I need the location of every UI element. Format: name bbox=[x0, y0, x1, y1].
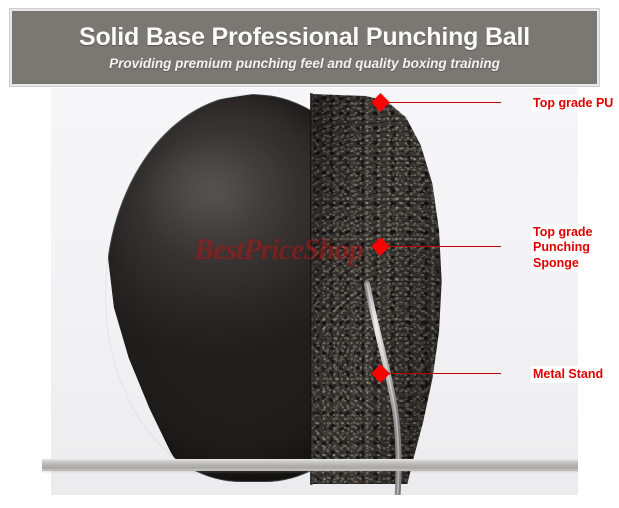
callout-line-top-grade-pu bbox=[388, 102, 501, 103]
product-infographic: Solid Base Professional Punching Ball Pr… bbox=[0, 0, 619, 508]
callout-label-top-grade-punching-sponge: Top grade Punching Sponge bbox=[531, 224, 595, 272]
callout-label-top-grade-pu: Top grade PU bbox=[531, 95, 615, 112]
base-bar-shadow bbox=[42, 470, 578, 474]
header-banner: Solid Base Professional Punching Ball Pr… bbox=[10, 9, 599, 86]
product-photo: BestPriceShop bbox=[42, 88, 578, 495]
page-title: Solid Base Professional Punching Ball bbox=[79, 24, 530, 50]
callout-label-metal-stand: Metal Stand bbox=[531, 366, 605, 383]
sponge-shading bbox=[311, 94, 443, 484]
photo-left-margin bbox=[42, 88, 51, 495]
page-subtitle: Providing premium punching feel and qual… bbox=[109, 56, 500, 71]
cutaway-seam bbox=[310, 93, 313, 485]
callout-line-metal-stand bbox=[388, 373, 501, 374]
callout-line-top-grade-punching-sponge bbox=[388, 246, 501, 247]
sponge-cutaway bbox=[311, 94, 443, 484]
